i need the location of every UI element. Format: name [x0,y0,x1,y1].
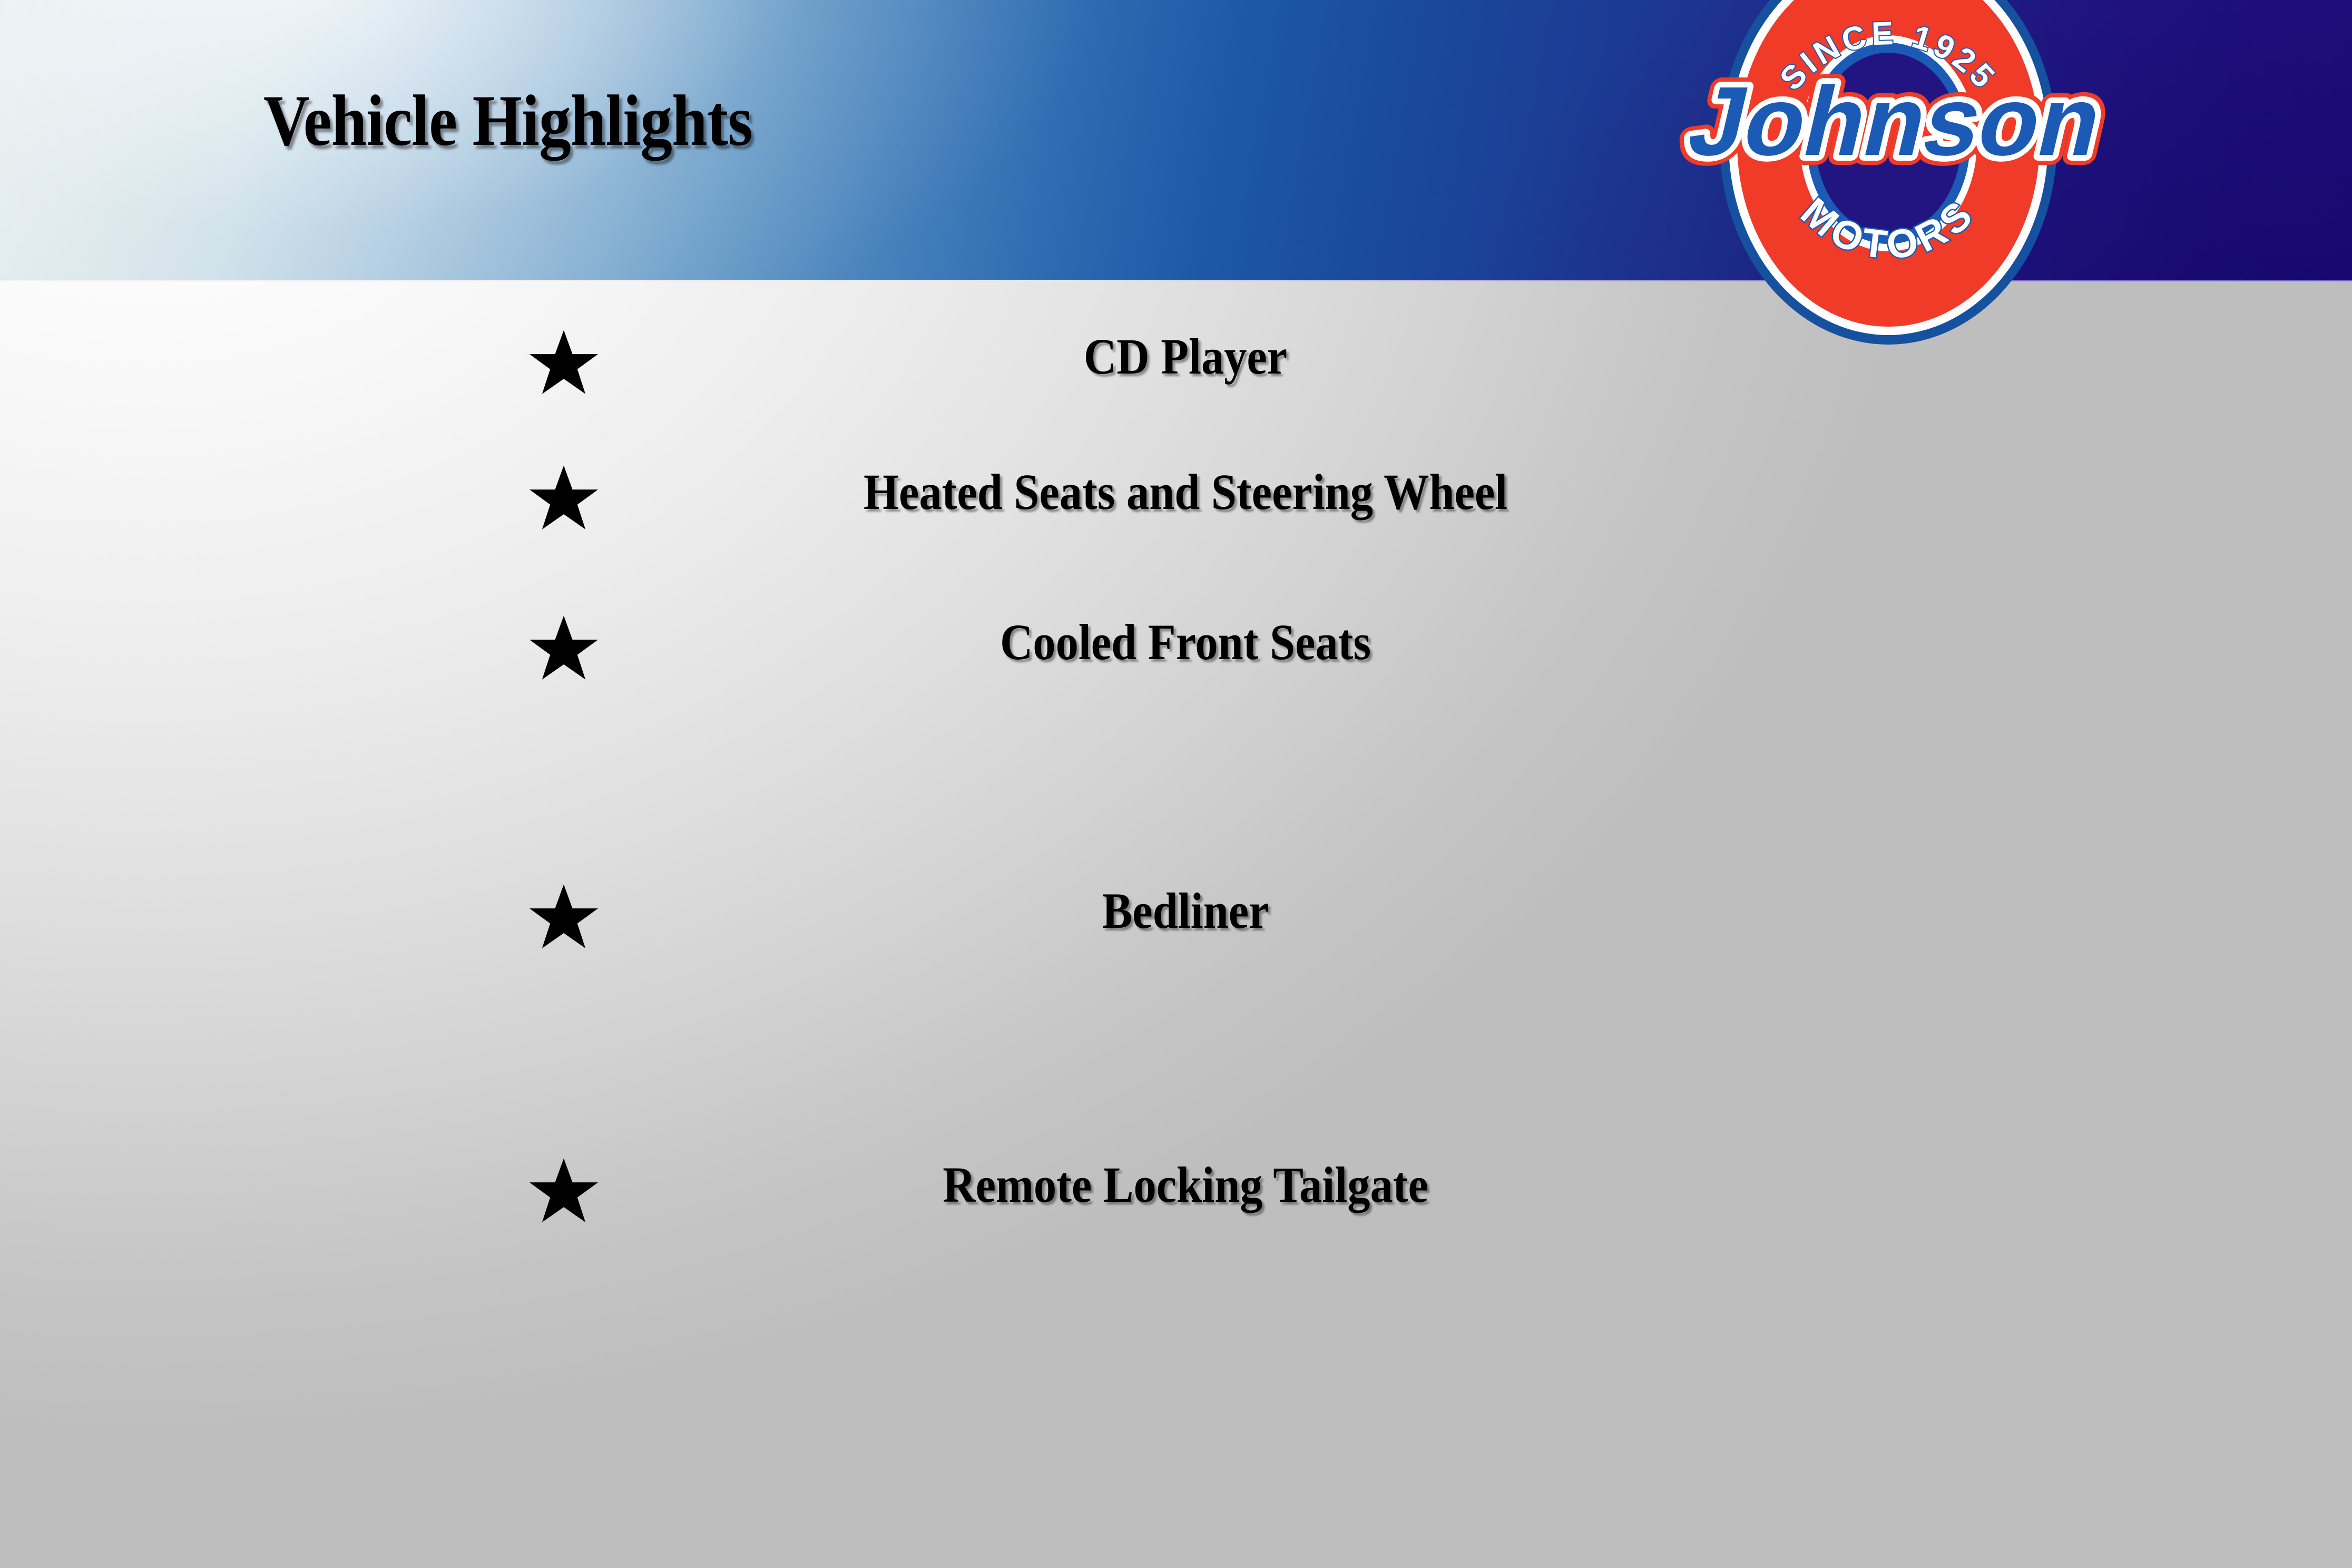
johnson-motors-logo: SINCE 1925 MOTORS Johnson Johnson Johnso… [1684,0,2093,286]
page-title: Vehicle Highlights [263,84,752,157]
star-icon [527,1155,601,1229]
logo-wordmark-group: Johnson Johnson Johnson [1679,66,2113,175]
star-icon [527,327,601,401]
list-item-label: Heated Seats and Steering Wheel [664,463,1707,522]
star-icon [527,881,601,955]
logo-wordmark-fill: Johnson [1679,66,2113,175]
highlights-list: CD Player Heated Seats and Steering Whee… [0,281,2352,1568]
list-item-label: Cooled Front Seats [664,613,1707,672]
list-item: Cooled Front Seats [0,613,2352,697]
star-icon [527,463,601,536]
list-item-label: Bedliner [664,881,1707,940]
list-item: Remote Locking Tailgate [0,1155,2352,1240]
list-item-label: CD Player [664,327,1707,386]
list-item: CD Player [0,327,2352,411]
list-item: Heated Seats and Steering Wheel [0,463,2352,600]
list-item-label: Remote Locking Tailgate [664,1155,1707,1214]
star-icon [527,613,601,687]
slide-root: Vehicle Highlights SINCE 1925 [0,0,2352,1568]
list-item: Bedliner [0,881,2352,966]
